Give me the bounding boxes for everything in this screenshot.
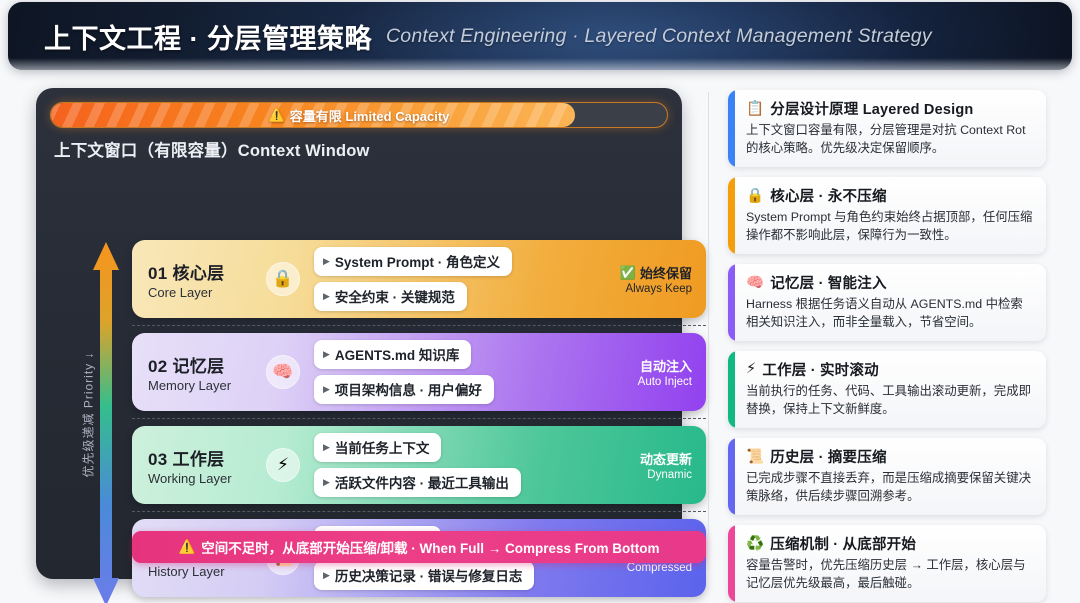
layer-chip-label: AGENTS.md 知识库 <box>335 344 460 364</box>
layer-badge-en: Auto Inject <box>638 376 692 388</box>
page-subtitle: Context Engineering · Layered Context Ma… <box>386 25 932 48</box>
compress-warning-text: 空间不足时，从底部开始压缩/卸载 · When Full → Compress … <box>201 537 659 557</box>
layer-badge-en: Compressed <box>627 562 692 574</box>
card-body-text: System Prompt 与角色约束始终占据顶部，任何压缩操作都不影响此层，保… <box>746 209 1034 245</box>
scroll-icon: 📜 <box>746 448 764 465</box>
page-header: 上下文工程 · 分层管理策略 Context Engineering · Lay… <box>8 2 1072 70</box>
layer-badge-en: Dynamic <box>640 469 692 481</box>
card-title-text: 历史层 · 摘要压缩 <box>770 446 886 467</box>
priority-axis-label: 优先级递减 Priority ↓ <box>80 235 97 595</box>
priority-axis: 优先级递减 Priority ↓ <box>58 240 124 603</box>
layer-row[interactable]: 03 工作层Working Layer⚡▶当前任务上下文▶活跃文件内容 · 最近… <box>132 426 706 504</box>
chevron-right-icon: ▶ <box>323 570 330 581</box>
layer-name-en: Core Layer <box>148 285 266 300</box>
layer-status-badge: 动态更新Dynamic <box>640 449 692 481</box>
column-divider <box>708 92 709 570</box>
context-window-panel: ⚠️ 容量有限 Limited Capacity 上下文窗口（有限容量）Cont… <box>36 88 682 579</box>
info-card[interactable]: 🔒核心层 · 永不压缩System Prompt 与角色约束始终占据顶部，任何压… <box>728 177 1046 254</box>
check-icon: ✅ <box>620 265 636 281</box>
layer-separator <box>132 411 706 426</box>
layer-chip[interactable]: ▶System Prompt · 角色定义 <box>314 247 512 276</box>
layer-chip-label: 当前任务上下文 <box>335 437 430 457</box>
clipboard-icon: 📋 <box>746 100 764 117</box>
layer-row[interactable]: 02 记忆层Memory Layer🧠▶AGENTS.md 知识库▶项目架构信息… <box>132 333 706 411</box>
layer-badge-en: Always Keep <box>620 283 692 295</box>
card-body-text: 容量告警时，优先压缩历史层 → 工作层，核心层与记忆层优先级最高，最后触碰。 <box>746 557 1034 593</box>
card-title-text: 压缩机制 · 从底部开始 <box>770 533 916 554</box>
layer-badge-cn-text: 始终保留 <box>640 263 692 282</box>
layer-chip-label: 历史决策记录 · 错误与修复日志 <box>335 565 523 585</box>
info-card[interactable]: 📜历史层 · 摘要压缩已完成步骤不直接丢弃，而是压缩成摘要保留关键决策脉络，供后… <box>728 438 1046 515</box>
card-accent-bar <box>728 351 735 428</box>
chevron-right-icon: ▶ <box>323 384 330 395</box>
layer-chip[interactable]: ▶项目架构信息 · 用户偏好 <box>314 375 494 404</box>
card-title: 🧠记忆层 · 智能注入 <box>746 272 1034 293</box>
chevron-right-icon: ▶ <box>323 291 330 302</box>
card-accent-bar <box>728 90 735 167</box>
card-accent-bar <box>728 525 735 602</box>
chevron-right-icon: ▶ <box>323 349 330 360</box>
layer-name-en: History Layer <box>148 564 266 579</box>
warning-icon: ⚠️ <box>269 107 285 123</box>
card-accent-bar <box>728 438 735 515</box>
layer-chip-label: 安全约束 · 关键规范 <box>335 286 455 306</box>
card-body-text: 当前执行的任务、代码、工具输出滚动更新，完成即替换，保持上下文新鲜度。 <box>746 383 1034 419</box>
layer-chip-label: 活跃文件内容 · 最近工具输出 <box>335 472 509 492</box>
layer-separator <box>132 318 706 333</box>
lock-icon: 🔒 <box>746 187 764 204</box>
layer-status-badge: 自动注入Auto Inject <box>638 356 692 388</box>
card-accent-bar <box>728 177 735 254</box>
compress-warning-banner: ⚠️ 空间不足时，从底部开始压缩/卸载 · When Full → Compre… <box>132 531 706 563</box>
brain-icon: 🧠 <box>266 355 300 389</box>
layer-chip[interactable]: ▶当前任务上下文 <box>314 433 441 462</box>
layer-row[interactable]: 01 核心层Core Layer🔒▶System Prompt · 角色定义▶安… <box>132 240 706 318</box>
info-card[interactable]: 📋分层设计原理 Layered Design上下文窗口容量有限，分层管理是对抗 … <box>728 90 1046 167</box>
layer-name-cn: 01 核心层 <box>148 259 266 284</box>
card-title: ♻️压缩机制 · 从底部开始 <box>746 533 1034 554</box>
info-card[interactable]: 🧠记忆层 · 智能注入Harness 根据任务语义自动从 AGENTS.md 中… <box>728 264 1046 341</box>
card-title-text: 分层设计原理 Layered Design <box>770 98 973 119</box>
capacity-label-text: 容量有限 Limited Capacity <box>290 106 450 125</box>
lock-icon: 🔒 <box>266 262 300 296</box>
layer-chip-list: ▶当前任务上下文▶活跃文件内容 · 最近工具输出 <box>314 433 630 497</box>
layer-chip[interactable]: ▶AGENTS.md 知识库 <box>314 340 471 369</box>
layer-name-cn: 02 记忆层 <box>148 352 266 377</box>
card-title-text: 工作层 · 实时滚动 <box>762 359 878 380</box>
chevron-right-icon: ▶ <box>323 256 330 267</box>
card-body-text: Harness 根据任务语义自动从 AGENTS.md 中检索相关知识注入，而非… <box>746 296 1034 332</box>
card-title: 📜历史层 · 摘要压缩 <box>746 446 1034 467</box>
layer-chip-label: System Prompt · 角色定义 <box>335 251 500 271</box>
card-title: 📋分层设计原理 Layered Design <box>746 98 1034 119</box>
card-title: 🔒核心层 · 永不压缩 <box>746 185 1034 206</box>
layer-badge-cn: 自动注入 <box>638 356 692 375</box>
lightning-icon: ⚡ <box>266 448 300 482</box>
brain-icon: 🧠 <box>746 274 764 291</box>
layer-identity: 01 核心层Core Layer <box>148 259 266 300</box>
layer-status-badge: ✅始终保留Always Keep <box>620 263 692 295</box>
card-title: ⚡工作层 · 实时滚动 <box>746 359 1034 380</box>
layer-chip-label: 项目架构信息 · 用户偏好 <box>335 379 482 399</box>
layer-badge-cn: ✅始终保留 <box>620 263 692 282</box>
layer-chip[interactable]: ▶活跃文件内容 · 最近工具输出 <box>314 468 521 497</box>
card-title-text: 核心层 · 永不压缩 <box>770 185 886 206</box>
chevron-right-icon: ▶ <box>323 442 330 453</box>
card-title-text: 记忆层 · 智能注入 <box>770 272 886 293</box>
capacity-bar-label: ⚠️ 容量有限 Limited Capacity <box>51 103 667 127</box>
layer-badge-cn: 动态更新 <box>640 449 692 468</box>
page-title: 上下文工程 · 分层管理策略 <box>44 17 372 56</box>
layer-name-en: Working Layer <box>148 471 266 486</box>
info-card[interactable]: ♻️压缩机制 · 从底部开始容量告警时，优先压缩历史层 → 工作层，核心层与记忆… <box>728 525 1046 602</box>
chevron-right-icon: ▶ <box>323 477 330 488</box>
layer-chip[interactable]: ▶安全约束 · 关键规范 <box>314 282 467 311</box>
layer-chip-list: ▶System Prompt · 角色定义▶安全约束 · 关键规范 <box>314 247 610 311</box>
layer-badge-cn-text: 自动注入 <box>640 356 692 375</box>
card-body-text: 已完成步骤不直接丢弃，而是压缩成摘要保留关键决策脉络，供后续步骤回溯参考。 <box>746 470 1034 506</box>
card-body-text: 上下文窗口容量有限，分层管理是对抗 Context Rot 的核心策略。优先级决… <box>746 122 1034 158</box>
recycle-icon: ♻️ <box>746 535 764 552</box>
warning-icon: ⚠️ <box>178 539 195 555</box>
context-window-title: 上下文窗口（有限容量）Context Window <box>54 137 668 161</box>
layer-separator <box>132 504 706 519</box>
notes-card-list: 📋分层设计原理 Layered Design上下文窗口容量有限，分层管理是对抗 … <box>728 90 1046 603</box>
layer-chip[interactable]: ▶历史决策记录 · 错误与修复日志 <box>314 561 534 590</box>
lightning-icon: ⚡ <box>746 361 756 377</box>
layer-identity: 03 工作层Working Layer <box>148 445 266 486</box>
layer-name-cn: 03 工作层 <box>148 445 266 470</box>
card-accent-bar <box>728 264 735 341</box>
layer-name-en: Memory Layer <box>148 378 266 393</box>
layer-identity: 02 记忆层Memory Layer <box>148 352 266 393</box>
layer-badge-cn-text: 动态更新 <box>640 449 692 468</box>
capacity-bar: ⚠️ 容量有限 Limited Capacity <box>50 102 668 128</box>
info-card[interactable]: ⚡工作层 · 实时滚动当前执行的任务、代码、工具输出滚动更新，完成即替换，保持上… <box>728 351 1046 428</box>
layer-chip-list: ▶AGENTS.md 知识库▶项目架构信息 · 用户偏好 <box>314 340 628 404</box>
